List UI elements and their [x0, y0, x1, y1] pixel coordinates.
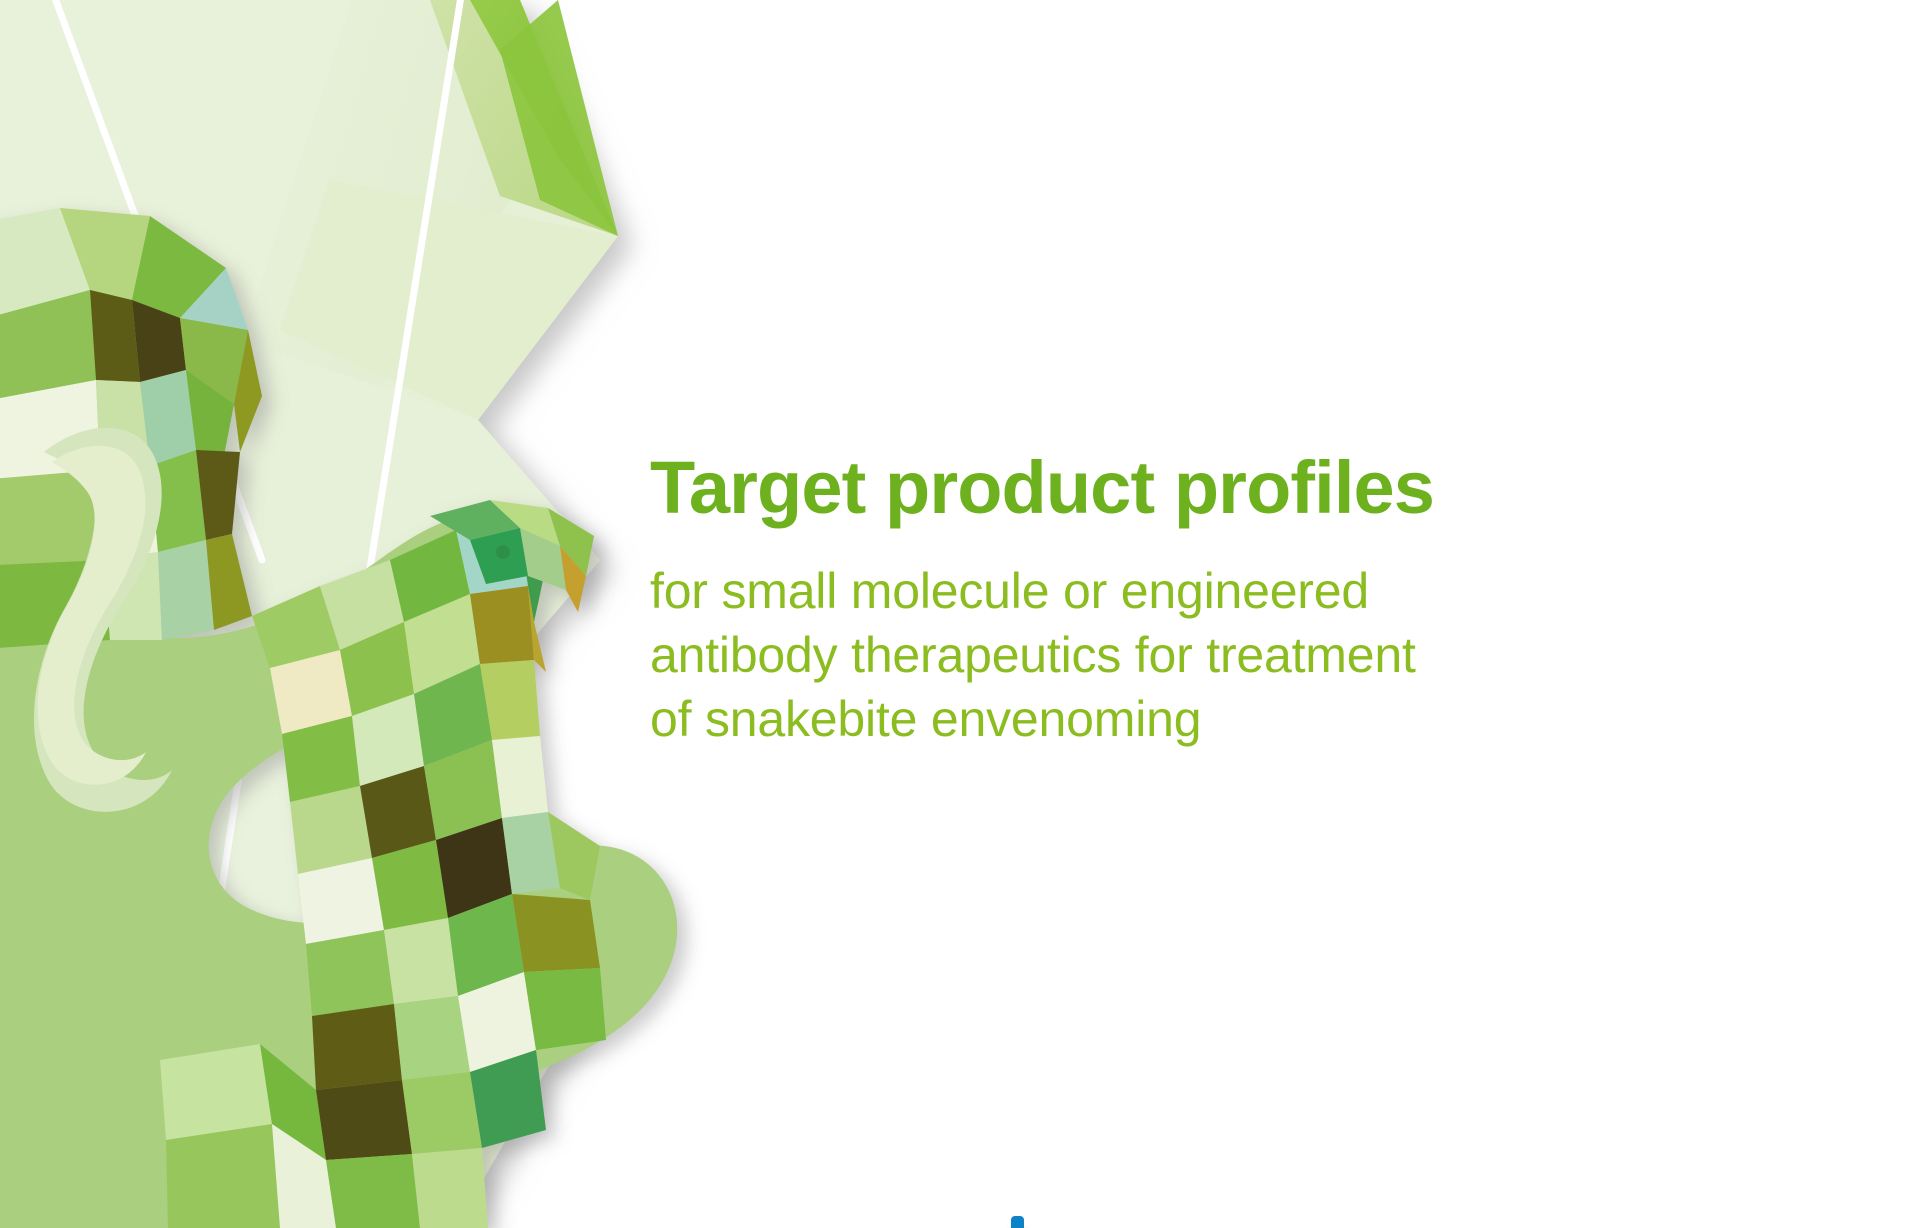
who-logo-icon	[1008, 1216, 1028, 1228]
page-title: Target product profiles	[650, 452, 1800, 525]
who-logo-tip-shape	[1011, 1216, 1024, 1228]
cover-page: Target product profiles for small molecu…	[0, 0, 1920, 1228]
page-subtitle-line-1: for small molecule or engineered	[650, 559, 1800, 623]
page-subtitle-line-3: of snakebite envenoming	[650, 687, 1800, 751]
page-subtitle-line-2: antibody therapeutics for treatment	[650, 623, 1800, 687]
page-subtitle: for small molecule or engineered antibod…	[650, 559, 1800, 751]
title-block: Target product profiles for small molecu…	[650, 452, 1800, 751]
